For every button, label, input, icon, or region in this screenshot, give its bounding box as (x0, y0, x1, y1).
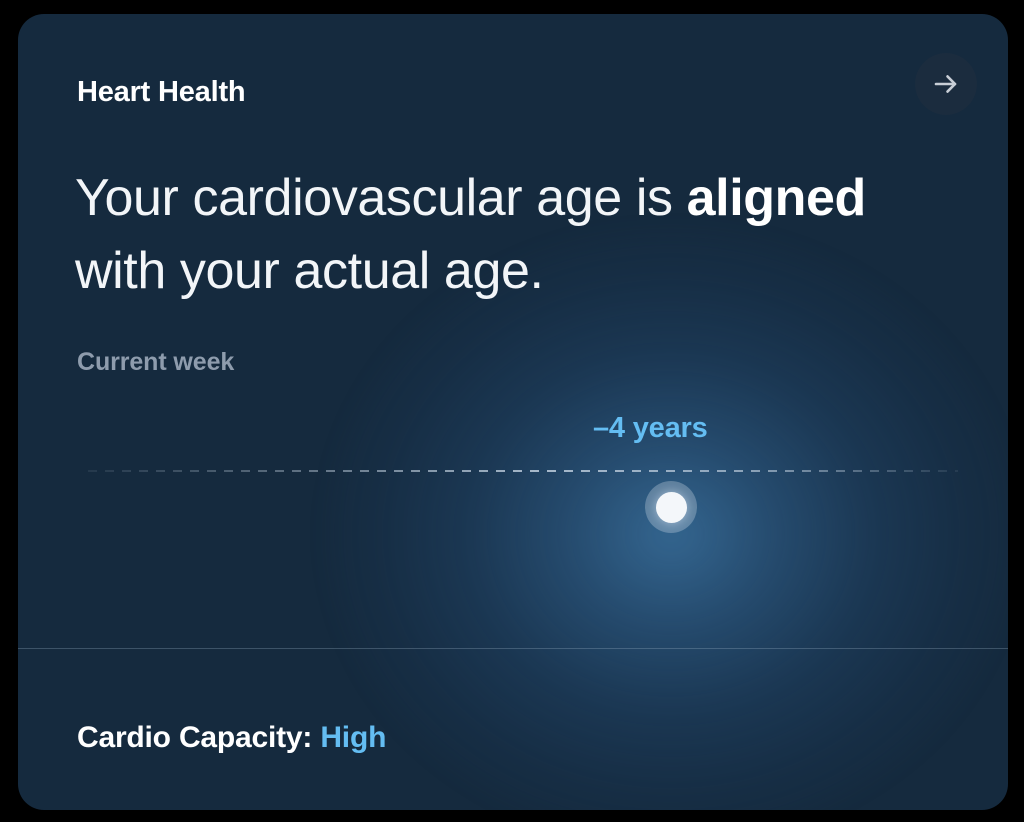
section-divider (18, 648, 1008, 649)
headline-emphasis: aligned (687, 169, 866, 227)
marker-core (656, 492, 687, 523)
headline-prefix: Your cardiovascular age is (75, 169, 687, 227)
cardio-capacity-value: High (320, 721, 386, 754)
arrow-right-icon[interactable] (915, 53, 977, 115)
cardio-capacity-row: Cardio Capacity: High (77, 721, 386, 755)
headline-suffix: with your actual age. (75, 242, 544, 300)
heart-health-card: Heart Health Your cardiovascular age is … (18, 14, 1008, 810)
screen: Heart Health Your cardiovascular age is … (0, 0, 1024, 822)
headline: Your cardiovascular age is aligned with … (75, 162, 935, 308)
cardio-capacity-label: Cardio Capacity: (77, 721, 312, 754)
baseline-dashed-line (88, 470, 958, 472)
timeframe-label: Current week (77, 348, 234, 377)
delta-years-label: –4 years (593, 412, 708, 445)
page-title: Heart Health (77, 76, 245, 109)
current-week-marker-dot[interactable] (645, 481, 697, 533)
